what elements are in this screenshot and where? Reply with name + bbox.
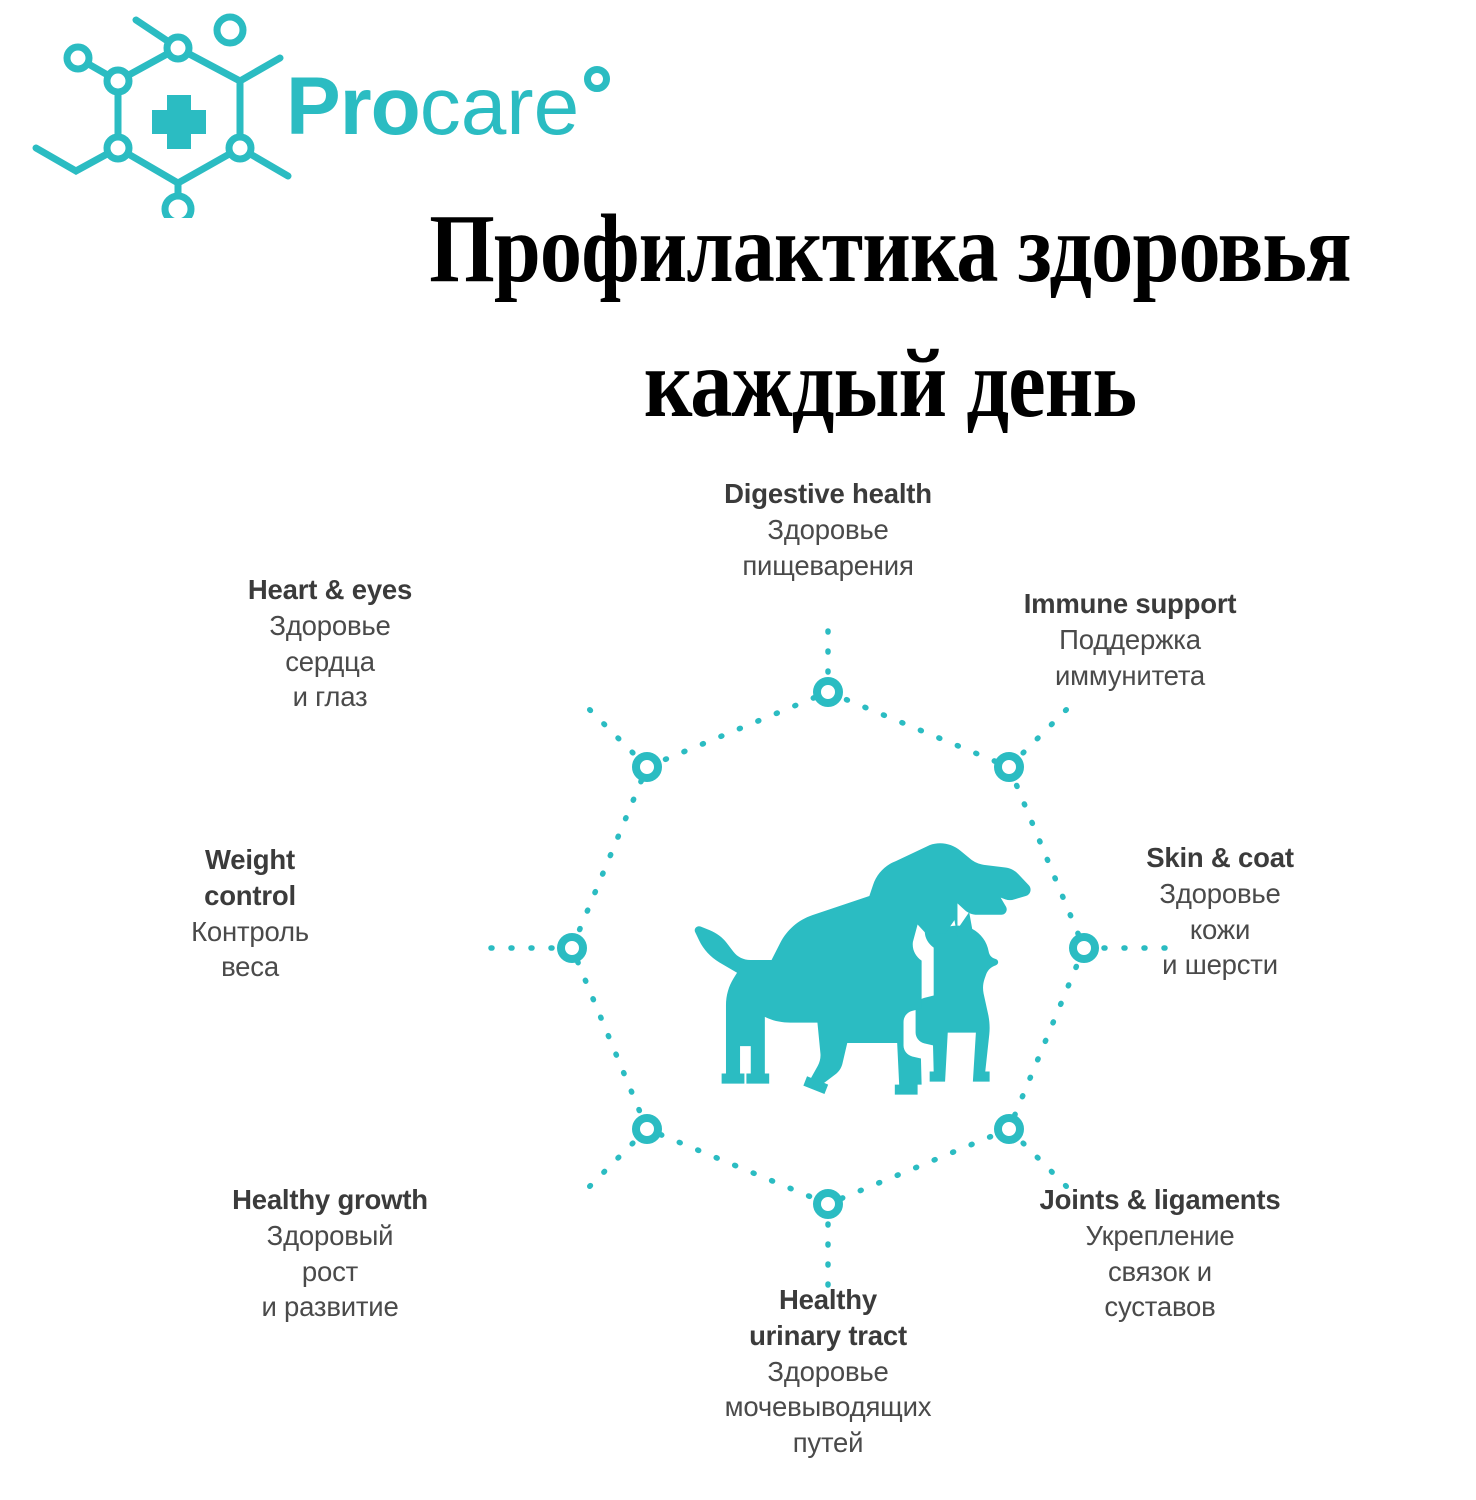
label-immune-support-ru-1: Поддержка	[800, 622, 1460, 658]
label-skin-and-coat-ru-2: кожи	[1000, 912, 1440, 948]
label-healthy-urinary-tract-ru-2: мочевыводящих	[528, 1389, 1128, 1425]
node-healthy-urinary-tract-icon[interactable]	[817, 1193, 839, 1215]
label-weight-control-en-2: control	[20, 878, 480, 914]
dog-and-cat-silhouette-icon	[695, 843, 1031, 1094]
label-healthy-growth-ru-2: рост	[30, 1254, 630, 1290]
page-title: Профилактика здоровья каждый день	[408, 182, 1371, 452]
brand-name-light: care	[420, 61, 580, 152]
label-joints-and-ligaments-ru-1: Укрепление	[880, 1218, 1440, 1254]
label-weight-control: Weight control Контроль веса	[20, 842, 480, 985]
brand-name-bold: Pro	[286, 61, 420, 152]
label-immune-support-ru-2: иммунитета	[800, 658, 1460, 694]
label-skin-and-coat-ru-3: и шерсти	[1000, 947, 1440, 983]
label-healthy-urinary-tract-ru-1: Здоровье	[528, 1354, 1128, 1390]
label-healthy-growth-ru-3: и развитие	[30, 1289, 630, 1325]
node-joints-and-ligaments-icon[interactable]	[998, 1118, 1020, 1140]
brand-degree-mark-icon	[584, 66, 610, 92]
label-healthy-growth: Healthy growth Здоровый рост и развитие	[30, 1182, 630, 1325]
label-heart-and-eyes-ru-3: и глаз	[20, 679, 640, 715]
label-healthy-urinary-tract-ru-3: путей	[528, 1425, 1128, 1461]
node-immune-support-icon[interactable]	[998, 756, 1020, 778]
label-heart-and-eyes-en: Heart & eyes	[20, 572, 640, 608]
label-skin-and-coat-en: Skin & coat	[1000, 840, 1440, 876]
label-healthy-growth-ru-1: Здоровый	[30, 1218, 630, 1254]
label-joints-and-ligaments-en: Joints & ligaments	[880, 1182, 1440, 1218]
label-digestive-health-en: Digestive health	[528, 476, 1128, 512]
label-immune-support: Immune support Поддержка иммунитета	[800, 586, 1460, 693]
medical-cross-icon	[152, 95, 206, 149]
label-healthy-growth-en: Healthy growth	[30, 1182, 630, 1218]
label-digestive-health-ru-1: Здоровье	[528, 512, 1128, 548]
label-weight-control-ru-1: Контроль	[20, 914, 480, 950]
label-weight-control-ru-2: веса	[20, 949, 480, 985]
label-weight-control-en-1: Weight	[20, 842, 480, 878]
node-weight-control-icon[interactable]	[561, 937, 583, 959]
label-skin-and-coat-ru-1: Здоровье	[1000, 876, 1440, 912]
label-digestive-health: Digestive health Здоровье пищеварения	[528, 476, 1128, 583]
node-heart-and-eyes-icon[interactable]	[636, 756, 658, 778]
node-healthy-growth-icon[interactable]	[636, 1118, 658, 1140]
benefits-octagon-diagram: Digestive health Здоровье пищеварения Im…	[0, 430, 1476, 1500]
label-heart-and-eyes-ru-2: сердца	[20, 644, 640, 680]
label-immune-support-en: Immune support	[800, 586, 1460, 622]
label-heart-and-eyes: Heart & eyes Здоровье сердца и глаз	[20, 572, 640, 715]
label-heart-and-eyes-ru-1: Здоровье	[20, 608, 640, 644]
brand-wordmark: Procare	[286, 66, 579, 148]
page-title-line-1: Профилактика здоровья	[408, 182, 1371, 317]
label-skin-and-coat: Skin & coat Здоровье кожи и шерсти	[1000, 840, 1440, 983]
